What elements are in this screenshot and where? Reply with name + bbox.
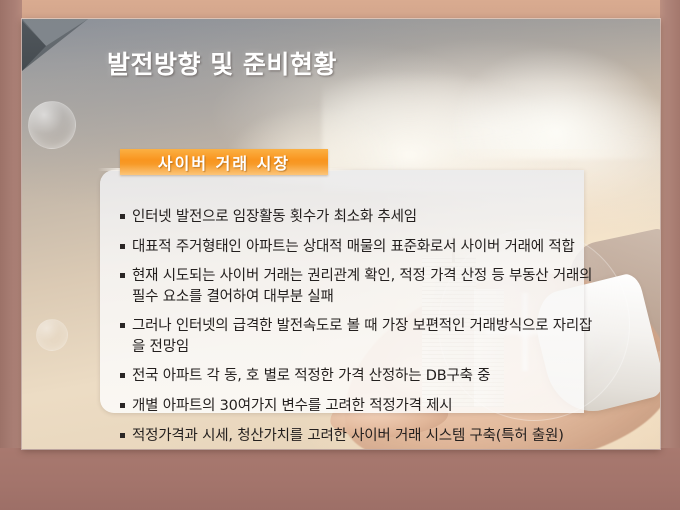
section-badge: 사이버 거래 시장 xyxy=(120,149,328,175)
cloud-shape xyxy=(452,49,660,159)
bullet-list: 인터넷 발전으로 임장활동 횟수가 최소화 추세임 대표적 주거형태인 아파트는… xyxy=(120,207,598,449)
bullet-square-icon xyxy=(120,373,125,378)
bullet-square-icon xyxy=(120,244,125,249)
peeled-corner-icon xyxy=(22,19,94,75)
frame-left-edge xyxy=(0,0,22,510)
bullet-square-icon xyxy=(120,273,125,278)
bubble-icon xyxy=(28,101,76,149)
list-item-text: 인터넷 발전으로 임장활동 횟수가 최소화 추세임 xyxy=(132,207,598,228)
list-item-text: 적정가격과 시세, 청산가치를 고려한 사이버 거래 시스템 구축(특허 출원) xyxy=(132,426,598,447)
badge-tick-right xyxy=(328,168,354,171)
bullet-square-icon xyxy=(120,403,125,408)
page-title: 발전방향 및 준비현황 xyxy=(107,45,337,81)
list-item: 인터넷 발전으로 임장활동 횟수가 최소화 추세임 xyxy=(120,207,598,228)
list-item: 개별 아파트의 30여가지 변수를 고려한 적정가격 제시 xyxy=(120,396,598,417)
list-item: 대표적 주거형태인 아파트는 상대적 매물의 표준화로서 사이버 거래에 적합 xyxy=(120,237,598,258)
list-item: 현재 시도되는 사이버 거래는 권리관계 확인, 적정 가격 산정 등 부동산 … xyxy=(120,266,598,307)
section-badge-label: 사이버 거래 시장 xyxy=(158,150,290,174)
list-item-text: 대표적 주거형태인 아파트는 상대적 매물의 표준화로서 사이버 거래에 적합 xyxy=(132,237,598,258)
list-item: 그러나 인터넷의 급격한 발전속도로 볼 때 가장 보편적인 거래방식으로 자리… xyxy=(120,316,598,357)
presentation-slide: 발전방향 및 준비현황 사이버 거래 시장 인터넷 발전으로 임장활동 횟수가 … xyxy=(0,0,680,510)
list-item: 전국 아파트 각 동, 호 별로 적정한 가격 산정하는 DB구축 중 xyxy=(120,366,598,387)
frame-bottom-edge xyxy=(0,448,680,510)
frame-right-edge xyxy=(660,0,680,510)
list-item-text: 그러나 인터넷의 급격한 발전속도로 볼 때 가장 보편적인 거래방식으로 자리… xyxy=(132,316,598,357)
list-item-text: 현재 시도되는 사이버 거래는 권리관계 확인, 적정 가격 산정 등 부동산 … xyxy=(132,266,598,307)
bullet-square-icon xyxy=(120,214,125,219)
bullet-square-icon xyxy=(120,433,125,438)
slide-artboard: 발전방향 및 준비현황 사이버 거래 시장 인터넷 발전으로 임장활동 횟수가 … xyxy=(22,19,660,449)
list-item-text: 개별 아파트의 30여가지 변수를 고려한 적정가격 제시 xyxy=(132,396,598,417)
list-item: 적정가격과 시세, 청산가치를 고려한 사이버 거래 시스템 구축(특허 출원) xyxy=(120,426,598,447)
list-item-text: 전국 아파트 각 동, 호 별로 적정한 가격 산정하는 DB구축 중 xyxy=(132,366,598,387)
bullet-square-icon xyxy=(120,323,125,328)
badge-tick-left xyxy=(98,168,120,171)
bubble-icon xyxy=(36,319,68,351)
